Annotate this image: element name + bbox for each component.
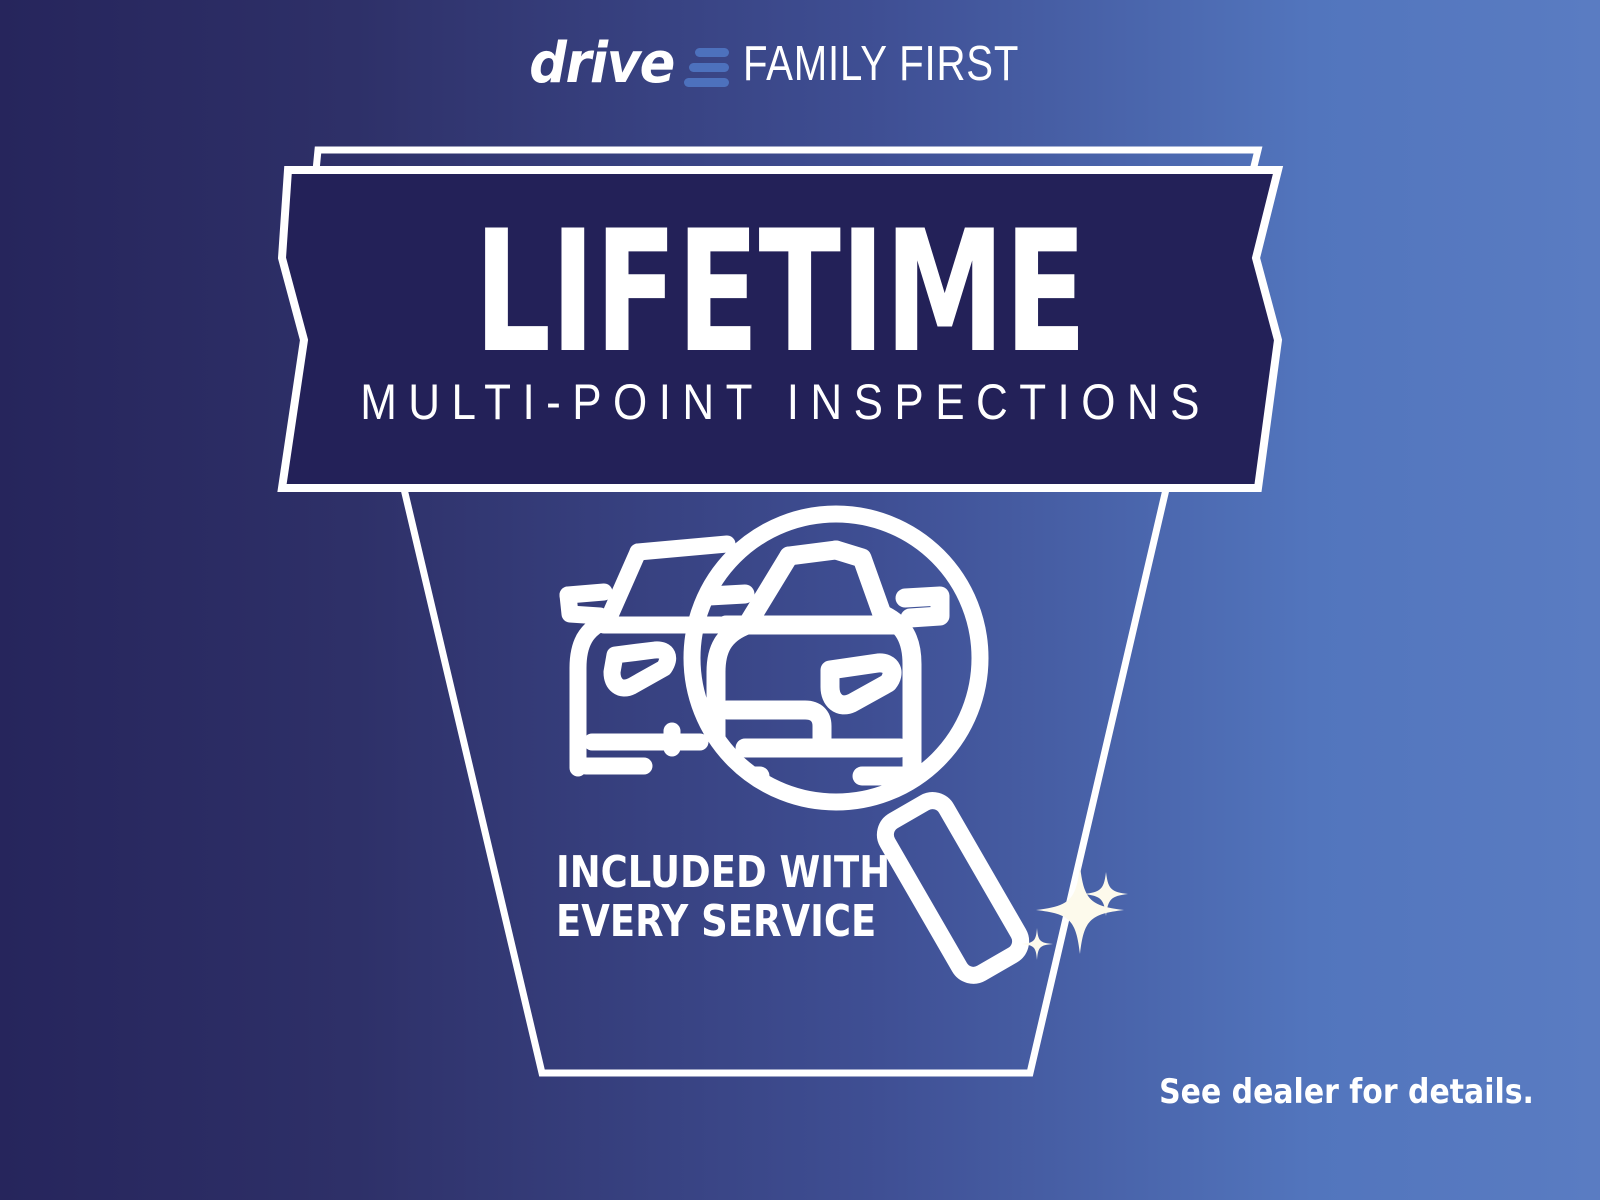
sparkle-group [1021,866,1128,960]
offer-body-text: INCLUDED WITH EVERY SERVICE [556,848,890,947]
stacked-bars-icon [684,48,729,87]
brand-wordmark: drive [529,36,674,92]
sparkle-icon-medium [1084,872,1128,916]
disclaimer-text: See dealer for details. [1159,1072,1534,1112]
sparkle-icon-small [1021,928,1053,960]
sparkle-icon-large [1036,866,1124,954]
car-outline-magnified [709,550,940,780]
car-outline-small [568,544,727,768]
brand-tagline: FAMILY FIRST [743,40,1019,89]
poster-canvas: drive FAMILY FIRST [0,0,1600,1200]
magnifier-handle [880,795,1027,981]
brand-lockup: drive FAMILY FIRST [520,36,1080,92]
ribbon-text-block: LIFETIME MULTI-POINT INSPECTIONS [300,163,1260,483]
page-subtitle: MULTI-POINT INSPECTIONS [349,377,1211,427]
page-title: LIFETIME [474,219,1086,367]
brand-header: drive FAMILY FIRST [0,0,1600,120]
magnifier-lens-ring [692,514,980,802]
trapezoid-frame [396,455,1174,1073]
